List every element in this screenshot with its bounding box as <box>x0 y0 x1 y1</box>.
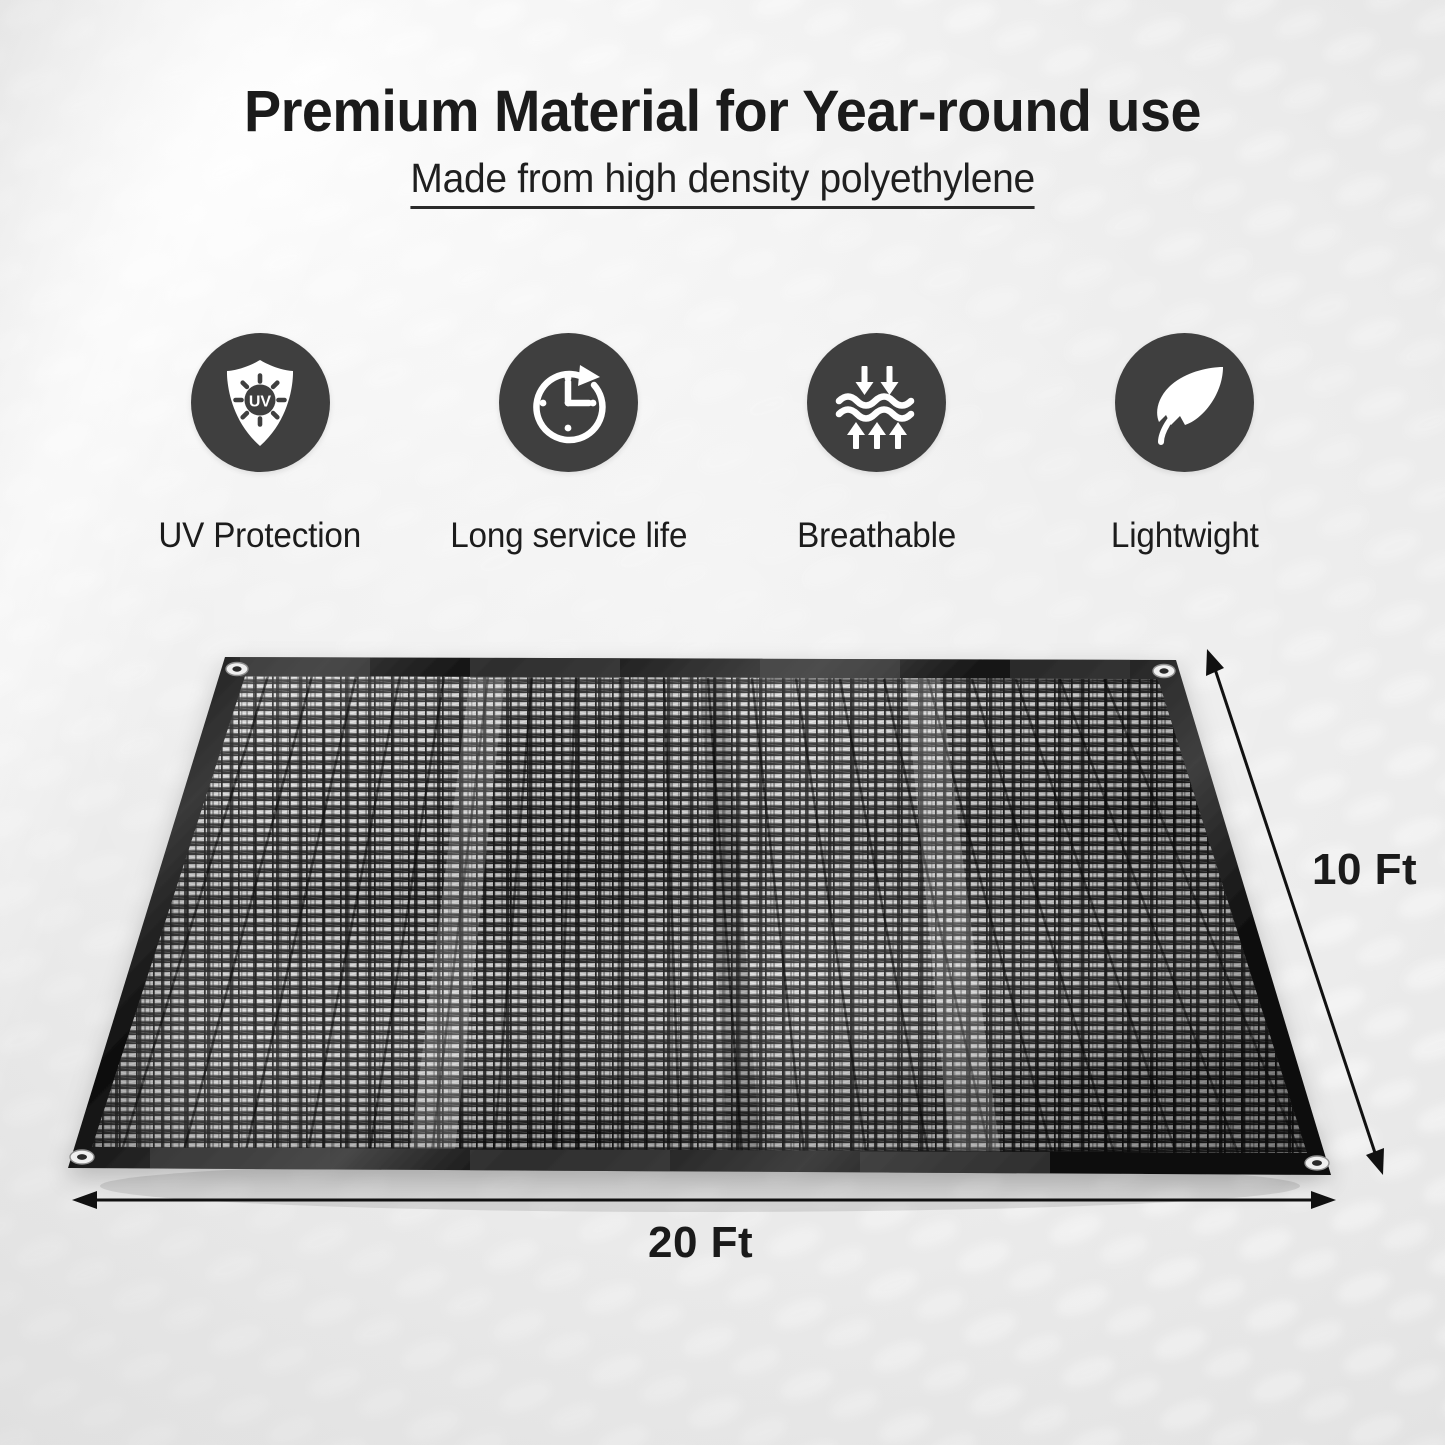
page-subtitle: Made from high density polyethylene <box>410 155 1034 209</box>
feature-label-breathable: Breathable <box>797 516 956 556</box>
subtitle-container: Made from high density polyethylene <box>0 155 1445 209</box>
feature-item-lightweight: Lightwight <box>1035 333 1335 556</box>
clock-arrow-icon <box>518 353 618 453</box>
feature-label-uv-protection: UV Protection <box>159 516 362 556</box>
page-title: Premium Material for Year-round use <box>29 78 1416 145</box>
feature-list: UV UV Protection <box>110 333 1335 556</box>
uv-shield-icon: UV <box>210 353 310 453</box>
feature-item-uv-protection: UV UV Protection <box>110 333 410 556</box>
feature-label-long-service-life: Long service life <box>450 516 687 556</box>
feather-leaf-icon <box>1135 353 1235 453</box>
feather-leaf-icon-circle <box>1115 333 1254 472</box>
uv-shield-icon-circle: UV <box>191 333 330 472</box>
dimension-label-height: 10 Ft <box>1312 845 1417 895</box>
clock-arrow-icon-circle <box>499 333 638 472</box>
breathable-waves-icon <box>827 353 927 453</box>
breathable-waves-icon-circle <box>807 333 946 472</box>
dimension-label-width: 20 Ft <box>648 1218 753 1268</box>
feature-label-lightweight: Lightwight <box>1111 516 1259 556</box>
feature-item-breathable: Breathable <box>727 333 1027 556</box>
feature-item-long-service-life: Long service life <box>418 333 718 556</box>
infographic-canvas: Premium Material for Year-round use Made… <box>0 0 1445 1445</box>
uv-badge-text: UV <box>249 393 272 410</box>
